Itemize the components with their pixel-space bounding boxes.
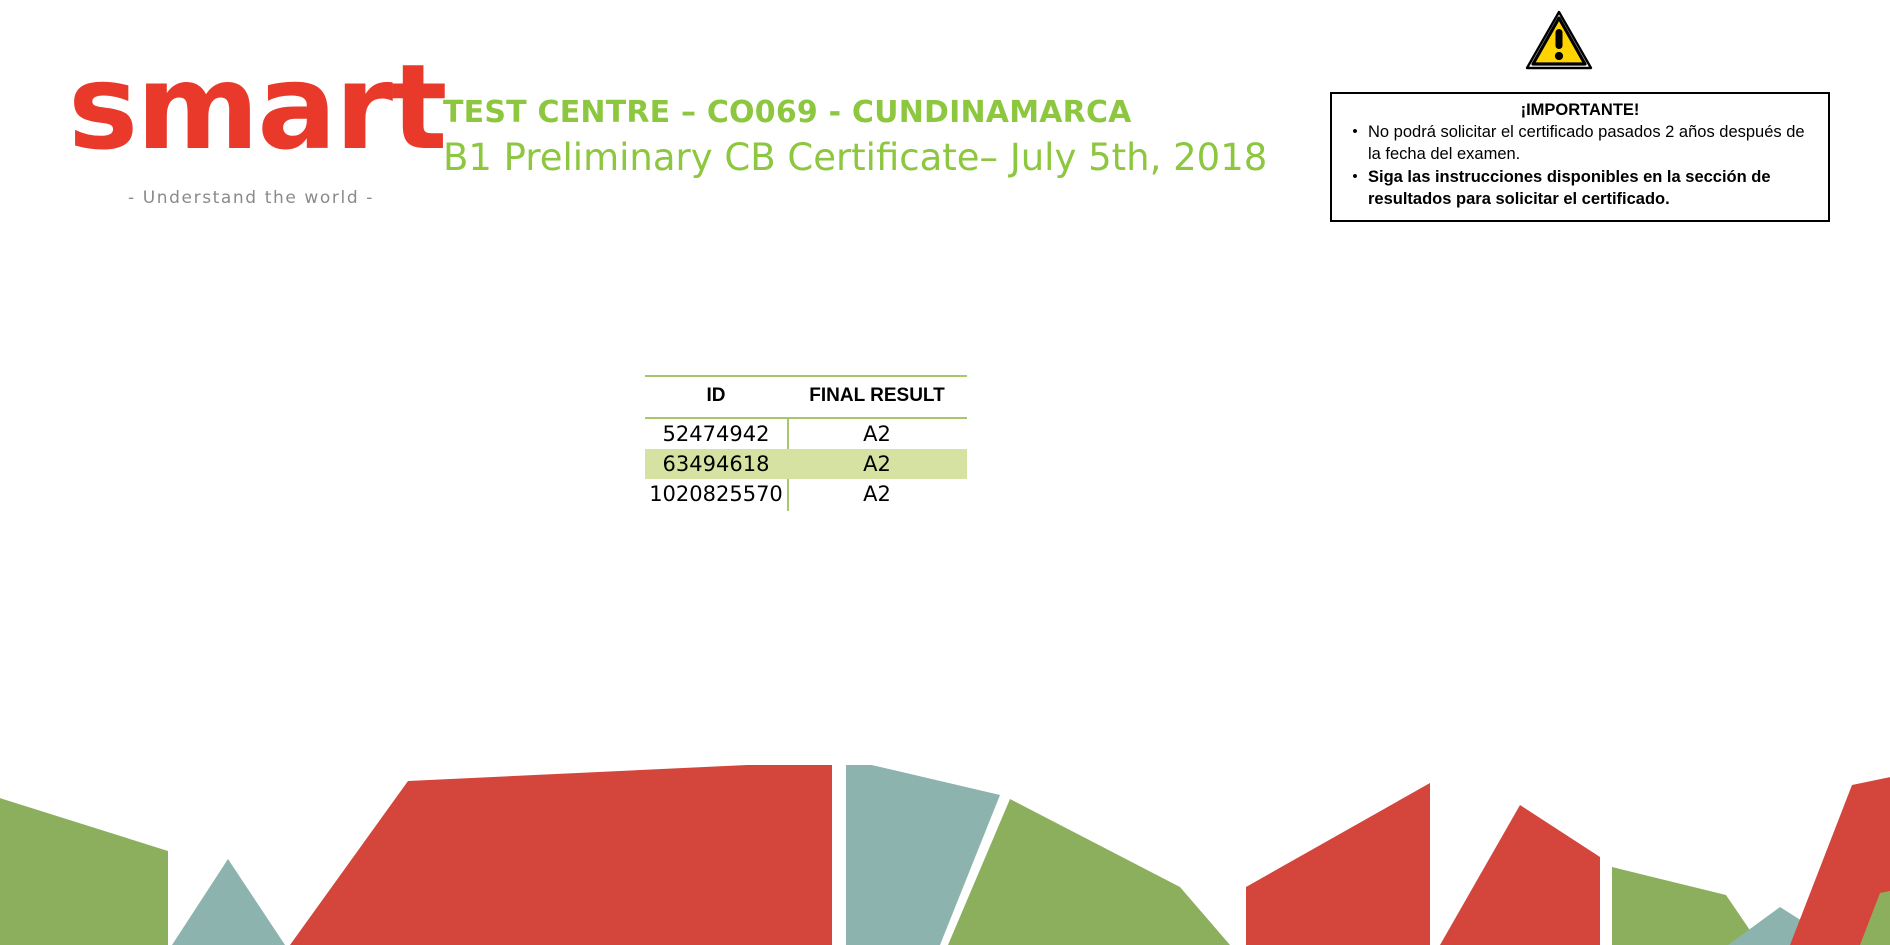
- table-row: 52474942 A2: [645, 419, 967, 449]
- bullet-icon: •: [1342, 122, 1368, 166]
- footer-shape-red: [1246, 783, 1430, 945]
- footer-shape-green: [1612, 867, 1760, 945]
- table-body: 52474942 A2 63494618 A2 1020825570 A2: [645, 419, 967, 509]
- cell-final-result: A2: [787, 449, 967, 479]
- footer-shape-green: [0, 795, 168, 945]
- logo-tagline: - Understand the world -: [128, 188, 374, 208]
- footer-shape-group: [0, 765, 1890, 945]
- notice-item: • No podrá solicitar el certificado pasa…: [1342, 122, 1818, 166]
- cell-final-result: A2: [787, 419, 967, 449]
- exam-subtitle: B1 Preliminary CB Certificate– July 5th,…: [443, 135, 1343, 181]
- table-row: 1020825570 A2: [645, 479, 967, 509]
- notice-box: ¡IMPORTANTE! • No podrá solicitar el cer…: [1330, 92, 1830, 222]
- footer-shape-red: [290, 765, 832, 945]
- footer-shape-teal: [172, 859, 285, 945]
- table-header-row: ID FINAL RESULT: [645, 377, 967, 417]
- column-header-id: ID: [645, 377, 787, 417]
- brand-logo: smart - Understand the world -: [68, 48, 418, 208]
- page-title: TEST CENTRE – CO069 - CUNDINAMARCA B1 Pr…: [443, 96, 1343, 181]
- cell-id: 52474942: [645, 419, 787, 449]
- table-row: 63494618 A2: [645, 449, 967, 479]
- notice-item-text: Siga las instrucciones disponibles en la…: [1368, 167, 1818, 211]
- cell-id: 63494618: [645, 449, 787, 479]
- results-table: ID FINAL RESULT 52474942 A2 63494618 A2 …: [645, 375, 967, 509]
- footer-decoration: [0, 765, 1890, 945]
- test-centre-title: TEST CENTRE – CO069 - CUNDINAMARCA: [443, 96, 1343, 129]
- notice-item-text: No podrá solicitar el certificado pasado…: [1368, 122, 1818, 166]
- notice-title: ¡IMPORTANTE!: [1342, 99, 1818, 121]
- bullet-icon: •: [1342, 167, 1368, 211]
- footer-shape-red: [1440, 805, 1600, 945]
- cell-id: 1020825570: [645, 479, 787, 509]
- column-header-final-result: FINAL RESULT: [787, 377, 967, 417]
- notice-item: • Siga las instrucciones disponibles en …: [1342, 167, 1818, 211]
- footer-shape-green: [948, 799, 1230, 945]
- warning-triangle-icon: [1525, 10, 1593, 70]
- logo-wordmark: smart: [68, 48, 445, 166]
- cell-final-result: A2: [787, 479, 967, 509]
